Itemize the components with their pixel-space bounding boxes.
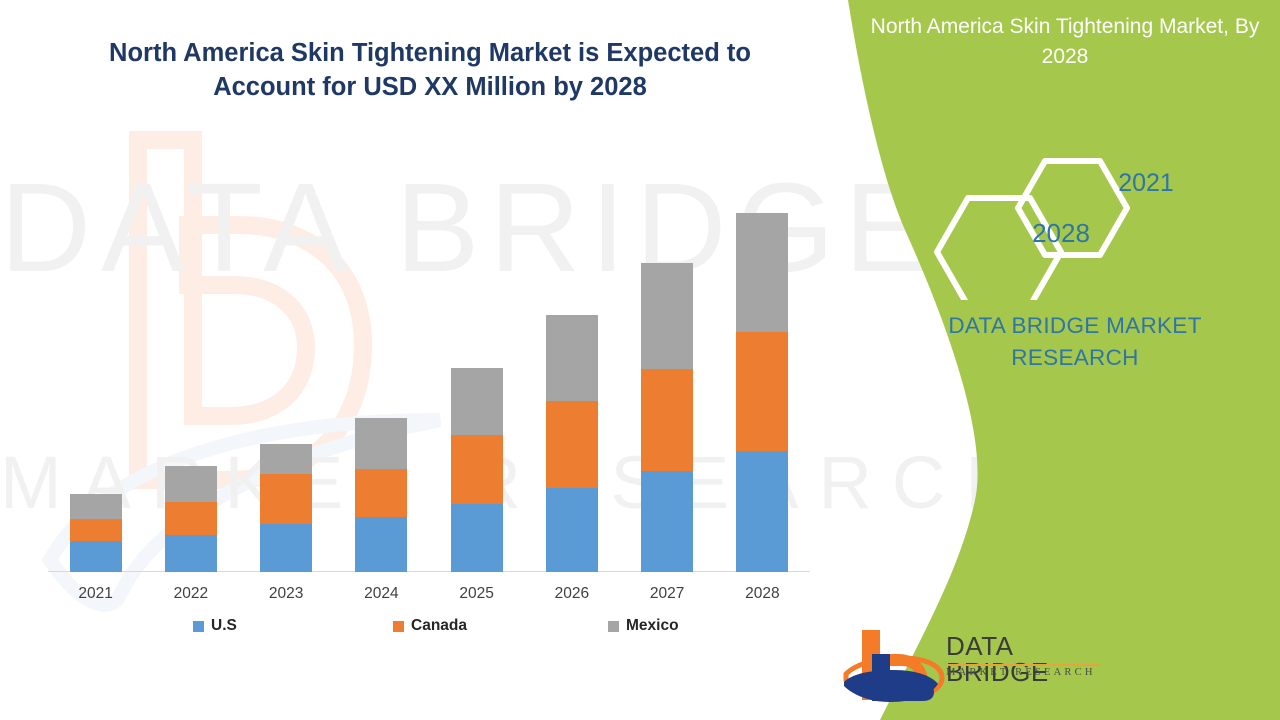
bar-segment [546,488,598,572]
x-axis-label: 2025 [432,585,522,603]
bar-group [70,494,122,572]
x-axis-label: 2028 [717,585,807,603]
bar-group [451,368,503,572]
x-axis-label: 2027 [622,585,712,603]
company-logo: DATA BRIDGE MARKET RESEARCH [842,620,1102,706]
bar-segment [641,471,693,572]
bar-segment [70,494,122,519]
bar-group [641,263,693,572]
x-axis-label: 2026 [527,585,617,603]
logo-tagline: MARKET RESEARCH [946,668,1106,679]
bar-segment [355,418,407,469]
hexagon-2028-label: 2028 [1006,218,1116,249]
legend-item[interactable]: Mexico [608,617,679,635]
bar-segment [260,524,312,572]
bar-segment [165,502,217,535]
bar-segment [260,474,312,524]
x-axis-label: 2024 [336,585,426,603]
bar-group [546,315,598,572]
bar-segment [736,451,788,572]
legend-swatch-icon [393,621,404,632]
legend-label: Mexico [626,617,679,635]
legend-label: Canada [411,617,467,635]
x-axis-label: 2021 [51,585,141,603]
bar-segment [451,435,503,504]
x-axis-label: 2022 [146,585,236,603]
bar-segment [70,519,122,541]
legend-item[interactable]: Canada [393,617,467,635]
logo-divider [948,664,1100,666]
legend-swatch-icon [608,621,619,632]
bar-segment [546,401,598,488]
x-axis-label: 2023 [241,585,331,603]
panel-title: North America Skin Tightening Market, By… [870,12,1260,72]
bar-segment [355,469,407,517]
legend-swatch-icon [193,621,204,632]
bar-group [165,466,217,572]
hexagon-2021-label: 2021 [1098,169,1194,198]
bar-segment [451,504,503,572]
legend-label: U.S [211,617,237,635]
bar-group [260,444,312,572]
brand-panel: North America Skin Tightening Market, By… [830,0,1280,720]
bar-segment [165,466,217,502]
bar-segment [641,369,693,471]
databridge-logo-mark-icon [842,624,952,702]
hexagon-outlines-icon [930,125,1260,300]
chart-plot-area [48,180,810,572]
brand-name-text: DATA BRIDGE MARKET RESEARCH [890,310,1260,374]
bar-group [736,213,788,572]
stacked-bar-chart: 20212022202320242025202620272028 U.SCana… [0,0,880,720]
bar-segment [736,332,788,451]
hexagon-group: 2021 2028 [930,125,1260,300]
bar-segment [736,213,788,332]
chart-legend: U.SCanadaMexico [48,617,810,641]
bar-segment [641,263,693,369]
bar-group [355,418,407,572]
x-axis-tick-labels: 20212022202320242025202620272028 [48,585,810,611]
legend-item[interactable]: U.S [193,617,237,635]
bar-segment [260,444,312,474]
bar-segment [355,517,407,572]
infographic-root: DATA BRIDGE MARKET RESEARCH North Americ… [0,0,1280,720]
bar-segment [451,368,503,435]
bar-segment [70,541,122,572]
bar-segment [165,535,217,572]
bar-segment [546,315,598,401]
